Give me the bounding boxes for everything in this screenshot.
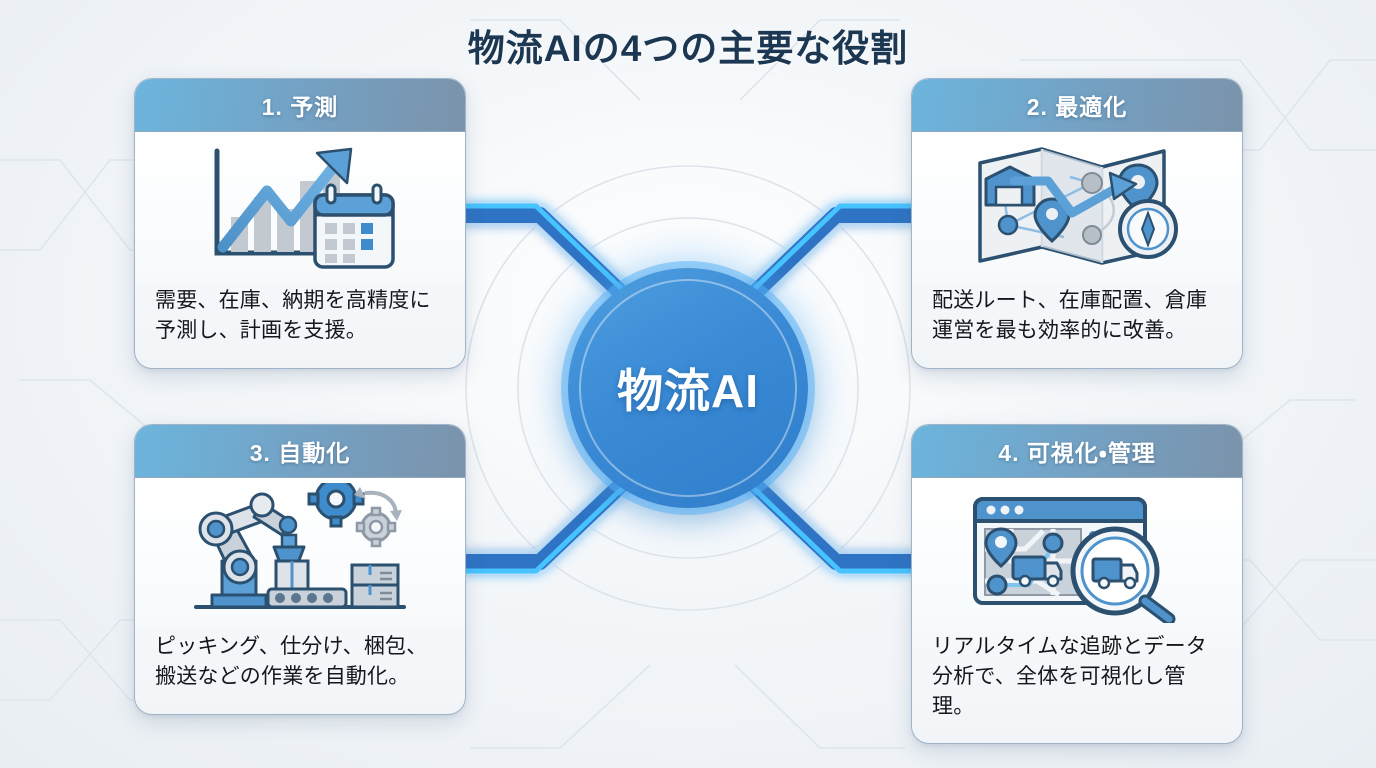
card-forecast[interactable]: 1. 予測 [134, 78, 466, 369]
card-header-visualization: 4. 可視化・管理 [912, 425, 1242, 478]
card-header-forecast: 1. 予測 [135, 79, 465, 132]
page-title: 物流AIの4つの主要な役割 [0, 18, 1376, 72]
card-description-optimization: 配送ルート、在庫配置、倉庫 運営を最も効率的に改善。 [932, 286, 1222, 346]
card-body-visualization: リアルタイムな追跡とデータ 分析で、全体を可視化し管理。 [912, 628, 1242, 743]
card-title-automation: 3. 自動化 [250, 434, 351, 468]
card-title-optimization: 2. 最適化 [1027, 88, 1128, 122]
card-description-visualization: リアルタイムな追跡とデータ 分析で、全体を可視化し管理。 [932, 632, 1222, 721]
card-optimization[interactable]: 2. 最適化 [911, 78, 1243, 369]
card-header-automation: 3. 自動化 [135, 425, 465, 478]
route-map-compass-icon [912, 132, 1242, 282]
card-body-optimization: 配送ルート、在庫配置、倉庫 運営を最も効率的に改善。 [912, 282, 1242, 368]
card-header-optimization: 2. 最適化 [912, 79, 1242, 132]
robot-arm-conveyor-icon [135, 478, 465, 628]
card-description-automation: ピッキング、仕分け、梱包、 搬送などの作業を自動化。 [155, 632, 445, 692]
dashboard-tracking-magnifier-icon [912, 478, 1242, 628]
card-body-automation: ピッキング、仕分け、梱包、 搬送などの作業を自動化。 [135, 628, 465, 714]
card-automation[interactable]: 3. 自動化 [134, 424, 466, 715]
card-body-forecast: 需要、在庫、納期を高精度に 予測し、計画を支援。 [135, 282, 465, 368]
card-title-visualization: 4. 可視化・管理 [998, 434, 1155, 468]
card-title-forecast: 1. 予測 [262, 88, 339, 122]
central-hub[interactable]: 物流AI [568, 268, 808, 508]
card-description-forecast: 需要、在庫、納期を高精度に 予測し、計画を支援。 [155, 286, 445, 346]
hub-label: 物流AI [617, 355, 759, 421]
card-visualization[interactable]: 4. 可視化・管理 [911, 424, 1243, 744]
infographic-canvas: 物流AIの4つの主要な役割 物流AI 1. 予測 [0, 0, 1376, 768]
growth-chart-calendar-icon [135, 132, 465, 282]
